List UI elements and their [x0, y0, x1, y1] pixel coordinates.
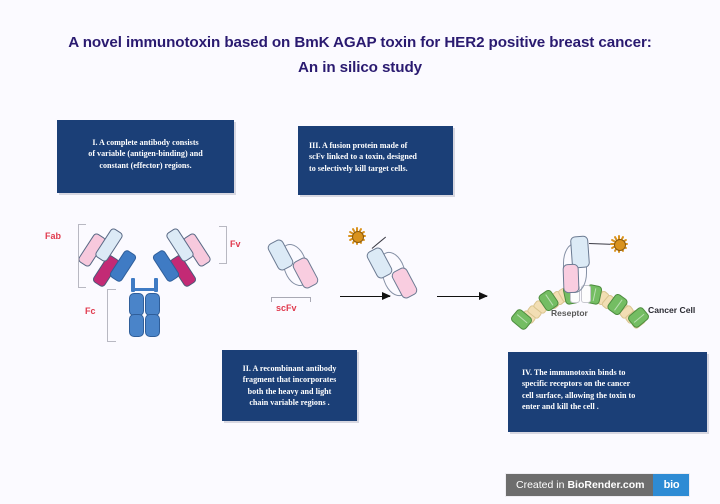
caption-4-line-1: IV. The immunotoxin binds to — [522, 367, 693, 378]
arrow-scfv-to-immunotoxin — [340, 291, 390, 301]
caption-4-line-4: enter and kill the cell . — [522, 401, 693, 412]
fab-bracket — [78, 224, 86, 288]
caption-2-line-1: II. A recombinant antibody — [231, 363, 348, 374]
scfv-label: scFv — [276, 303, 297, 313]
caption-2-line-2: fragment that incorporates — [231, 374, 348, 385]
caption-3-line-1: III. A fusion protein made of — [309, 140, 442, 151]
caption-4-line-2: specific receptors on the cancer — [522, 378, 693, 389]
fab-label: Fab — [45, 231, 61, 241]
biorender-text: Created in BioRender.com — [506, 474, 653, 496]
caption-3-line-2: scFv linked to a toxin, designed — [309, 151, 442, 162]
caption-1-line-3: constant (effector) regions. — [69, 160, 222, 171]
bound-immunotoxin-vl-domain — [562, 264, 579, 294]
caption-box-2: II. A recombinant antibody fragment that… — [222, 350, 357, 421]
caption-1-line-1: I. A complete antibody consists — [69, 137, 222, 148]
caption-3-line-3: to selectively kill target cells. — [309, 163, 442, 174]
figure-title: A novel immunotoxin based on BmK AGAP to… — [60, 30, 660, 80]
arrow-immunotoxin-to-cell — [437, 291, 487, 301]
scfv-bracket — [271, 297, 311, 302]
arrow-2-head — [479, 292, 488, 300]
bound-toxin-core — [614, 239, 626, 251]
figure-canvas: A novel immunotoxin based on BmK AGAP to… — [0, 0, 720, 504]
caption-2-line-4: chain variable regions . — [231, 397, 348, 408]
toxin-icon — [349, 228, 365, 244]
toxin-core — [352, 231, 364, 243]
caption-box-1: I. A complete antibody consists of varia… — [57, 120, 234, 193]
biorender-brand: BioRender.com — [567, 479, 644, 491]
caption-4-line-3: cell surface, allowing the toxin to — [522, 390, 693, 401]
cancer-cell-label: Cancer Cell — [648, 305, 695, 315]
antibody-fc-right-upper — [145, 293, 160, 316]
arrow-1-head — [382, 292, 391, 300]
caption-2-line-3: both the heavy and light — [231, 386, 348, 397]
antibody-fc-left-upper — [129, 293, 144, 316]
caption-1-line-2: of variable (antigen-binding) and — [69, 148, 222, 159]
fc-label: Fc — [85, 306, 96, 316]
biorender-prefix: Created in — [516, 479, 564, 491]
receptor-label: Reseptor — [551, 308, 588, 318]
bound-toxin-icon — [611, 236, 627, 252]
fc-bracket — [107, 289, 116, 342]
caption-box-4: IV. The immunotoxin binds to specific re… — [508, 352, 707, 432]
fv-bracket — [219, 226, 227, 264]
biorender-attribution[interactable]: Created in BioRender.com bio — [506, 474, 689, 496]
antibody-hinge-bar — [131, 288, 158, 291]
antibody-fc-right-lower — [145, 314, 160, 337]
antibody-fc-left-lower — [129, 314, 144, 337]
fv-label: Fv — [230, 239, 241, 249]
biorender-logo-icon: bio — [653, 474, 689, 496]
caption-box-3: III. A fusion protein made of scFv linke… — [298, 126, 453, 195]
title-line-1: A novel immunotoxin based on BmK AGAP to… — [68, 34, 594, 51]
